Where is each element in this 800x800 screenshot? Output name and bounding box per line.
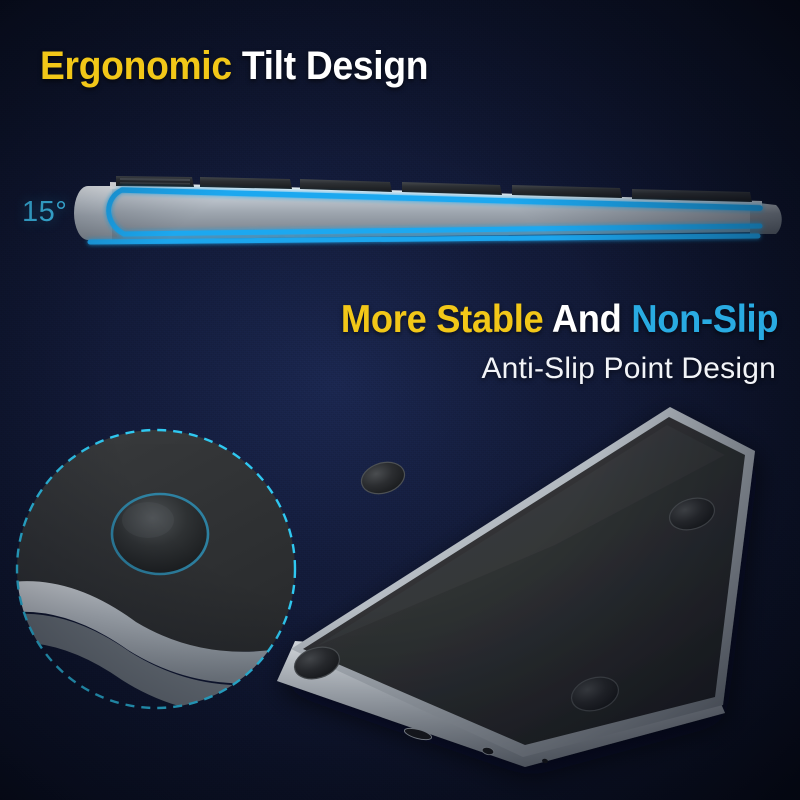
rubber-foot [358, 457, 409, 499]
stand-left-cap [74, 186, 112, 240]
tilt-profile-illustration [60, 158, 800, 268]
product-bottom-view-illustration [255, 395, 800, 800]
subtitle-text: Anti-Slip Point Design [481, 352, 776, 386]
headline-bottom-part2: And [552, 298, 622, 341]
headline-top-part2: Tilt Design [242, 44, 428, 88]
anti-slip-detail-callout [12, 424, 300, 714]
tilt-angle-label: 15° [22, 196, 67, 229]
product-marketing-poster: 15° [0, 0, 800, 800]
headline-top-part1: Ergonomic [40, 44, 232, 88]
headline-bottom-part1: More Stable [341, 298, 544, 341]
keycap [200, 177, 292, 189]
headline-bottom-part3: Non-Slip [631, 298, 778, 341]
keycap [116, 176, 194, 187]
headline-bottom: More Stable And Non-Slip [341, 298, 778, 342]
headline-top: Ergonomic Tilt Design [40, 44, 428, 89]
